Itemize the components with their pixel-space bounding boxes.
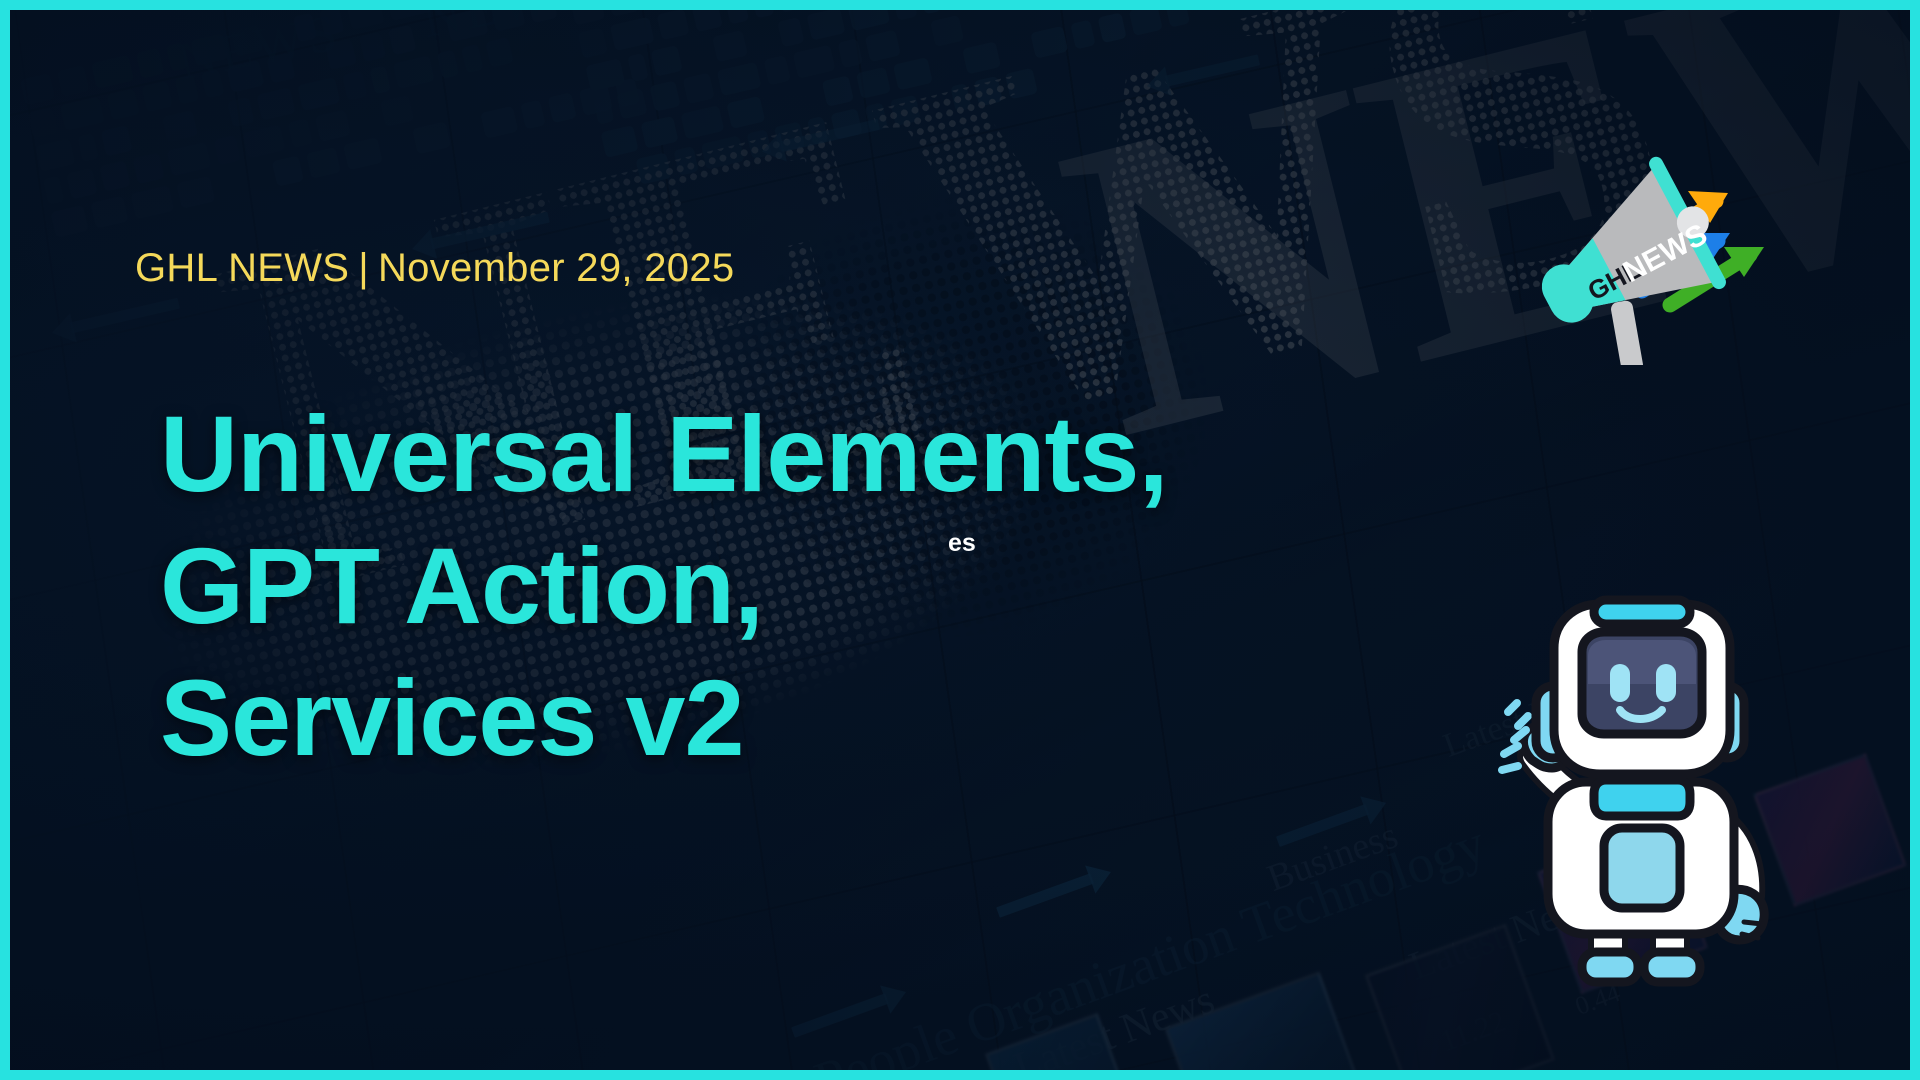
headline-line-2: GPT Action,: [160, 520, 1167, 652]
megaphone-icon: GHL NEWS: [1520, 105, 1780, 365]
megaphone-handle: [1610, 300, 1644, 365]
headline-superscript: es: [948, 529, 976, 558]
headline-line-1: Universal Elements,: [160, 388, 1167, 520]
robot-head: [1554, 600, 1730, 774]
news-banner: NEWS NEWS NEWS NEWS et People Organizati…: [0, 0, 1920, 1080]
robot-torso: [1548, 780, 1734, 934]
kicker-brand: GHL NEWS: [135, 246, 349, 290]
kicker-separator: |: [349, 246, 378, 290]
kicker-line: GHL NEWS|November 29, 2025: [135, 246, 734, 291]
robot-eye-right: [1656, 664, 1676, 702]
robot-mascot: [1458, 590, 1808, 990]
robot-eye-left: [1610, 664, 1630, 702]
robot-helmet-crest: [1594, 600, 1690, 624]
banner-content: GHL NEWS|November 29, 2025 Universal Ele…: [10, 10, 1910, 1070]
banner-stage: NEWS NEWS NEWS NEWS et People Organizati…: [10, 10, 1910, 1070]
kicker-date: November 29, 2025: [378, 246, 734, 290]
headline-line-3: Services v2: [160, 652, 1167, 784]
page-title: Universal Elements, GPT Action, Services…: [160, 388, 1167, 783]
